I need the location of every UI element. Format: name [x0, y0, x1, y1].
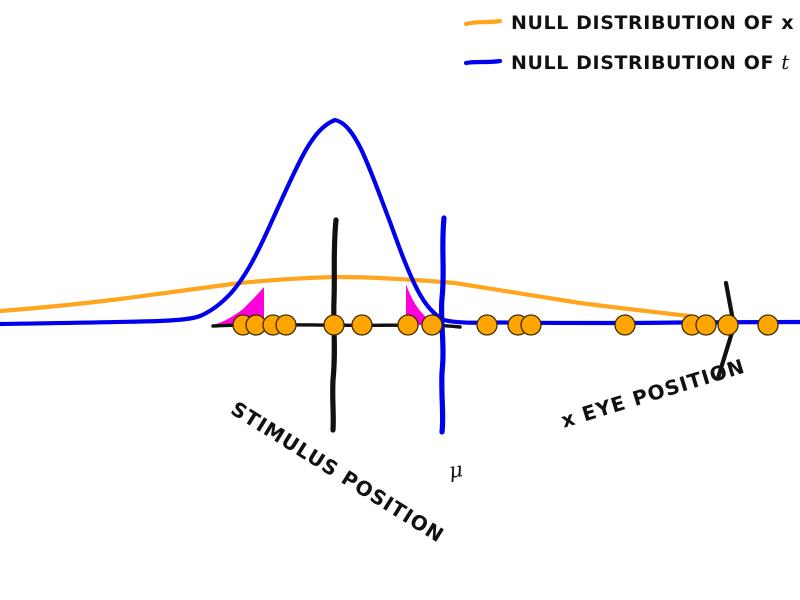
- data-point: [521, 315, 541, 335]
- data-point: [696, 315, 716, 335]
- legend-label-t-prefix: NULL DISTRIBUTION OF: [511, 52, 781, 74]
- legend-symbol-x: x: [781, 12, 794, 34]
- legend-entry-null-distribution-t[interactable]: NULL DISTRIBUTION OF t: [466, 50, 790, 74]
- data-point: [477, 315, 497, 335]
- data-point: [324, 315, 344, 335]
- blue-line-swatch: [466, 61, 500, 63]
- data-point: [615, 315, 635, 335]
- data-point: [276, 315, 296, 335]
- legend: NULL DISTRIBUTION OF x NULL DISTRIBUTION…: [466, 12, 794, 74]
- eye-position-text: EYE POSITION: [571, 354, 747, 429]
- figure-root: NULL DISTRIBUTION OF x NULL DISTRIBUTION…: [0, 0, 800, 600]
- mu-label: μ: [447, 457, 464, 483]
- legend-label-x-prefix: NULL DISTRIBUTION OF: [511, 12, 781, 34]
- orange-line-swatch: [466, 21, 500, 24]
- data-point: [352, 315, 372, 335]
- legend-label-x: NULL DISTRIBUTION OF x: [511, 12, 794, 34]
- legend-entry-null-distribution-x[interactable]: NULL DISTRIBUTION OF x: [466, 12, 794, 34]
- legend-label-t: NULL DISTRIBUTION OF t: [511, 50, 790, 74]
- null-distribution-t-curve: [0, 120, 800, 324]
- data-point: [422, 315, 442, 335]
- data-point: [398, 315, 418, 335]
- data-point: [758, 315, 778, 335]
- eye-position-label: x EYE POSITION: [558, 354, 748, 433]
- null-distribution-x-curve: [0, 277, 690, 316]
- legend-symbol-t: t: [781, 50, 790, 74]
- data-point: [718, 315, 738, 335]
- chart-canvas: NULL DISTRIBUTION OF x NULL DISTRIBUTION…: [0, 0, 800, 600]
- stimulus-position-label: STIMULUS POSITION: [227, 397, 449, 548]
